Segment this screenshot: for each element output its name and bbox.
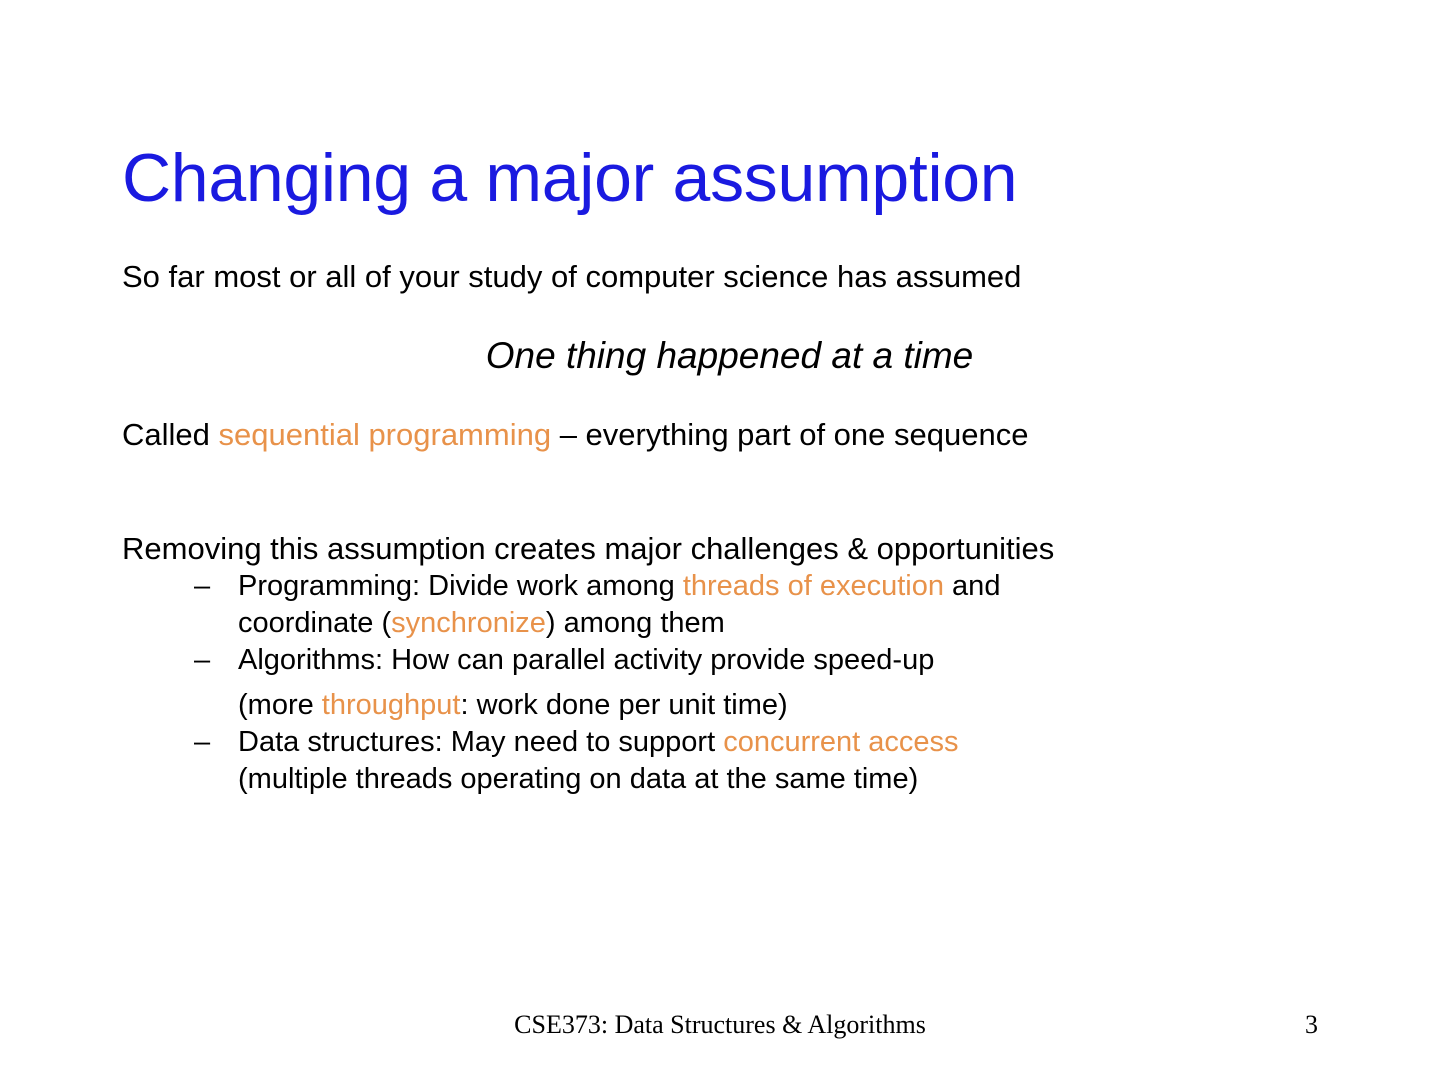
list-item-line-1: Data structures: May need to support con… [238,726,959,758]
called-highlight: sequential programming [219,417,552,452]
page-title: Changing a major assumption [122,144,1322,212]
spacer [122,296,1337,334]
list-item-line-2: (multiple threads operating on data at t… [238,761,1337,798]
intro-paragraph: So far most or all of your study of comp… [122,258,1337,296]
line-prefix: Data structures: May need to support [238,726,723,758]
called-paragraph: Called sequential programming – everythi… [122,416,1337,454]
emphasis-paragraph: One thing happened at a time [122,334,1337,378]
list-item-line-2: (more throughput: work done per unit tim… [238,687,1337,724]
removing-paragraph: Removing this assumption creates major c… [122,530,1337,568]
spacer [122,492,1337,530]
line-prefix: (multiple threads operating on data at t… [238,763,918,795]
line-prefix: Programming: Divide work among [238,570,683,602]
slide-footer: CSE373: Data Structures & Algorithms 3 [0,1008,1440,1052]
slide-body: So far most or all of your study of comp… [122,258,1337,798]
dash-bullet-icon: – [194,568,210,605]
spacer [122,454,1337,492]
list-item-line-1: Algorithms: How can parallel activity pr… [238,644,934,676]
line-highlight: synchronize [391,607,546,639]
called-suffix: – everything part of one sequence [551,417,1028,452]
list-item-line-1: Programming: Divide work among threads o… [238,570,1000,602]
spacer [122,378,1337,416]
line-prefix: Algorithms: How can parallel activity pr… [238,644,934,676]
slide-canvas: Changing a major assumption So far most … [0,0,1440,1080]
list-item: – Programming: Divide work among threads… [122,568,1337,642]
line-prefix: coordinate ( [238,607,391,639]
line-suffix: : work done per unit time) [460,689,787,721]
bullet-list: – Programming: Divide work among threads… [122,568,1337,798]
list-item-line-2: coordinate (synchronize) among them [238,605,1337,642]
dash-bullet-icon: – [194,724,210,761]
list-item: – Data structures: May need to support c… [122,724,1337,798]
called-prefix: Called [122,417,219,452]
page-number: 3 [1305,1008,1318,1042]
line-suffix: ) among them [546,607,725,639]
line-highlight: throughput [322,689,461,721]
footer-course-label: CSE373: Data Structures & Algorithms [0,1008,1440,1042]
line-suffix: and [944,570,1000,602]
line-highlight: concurrent access [723,726,958,758]
dash-bullet-icon: – [194,642,210,679]
list-item: – Algorithms: How can parallel activity … [122,642,1337,724]
line-prefix: (more [238,689,322,721]
line-highlight: threads of execution [683,570,944,602]
